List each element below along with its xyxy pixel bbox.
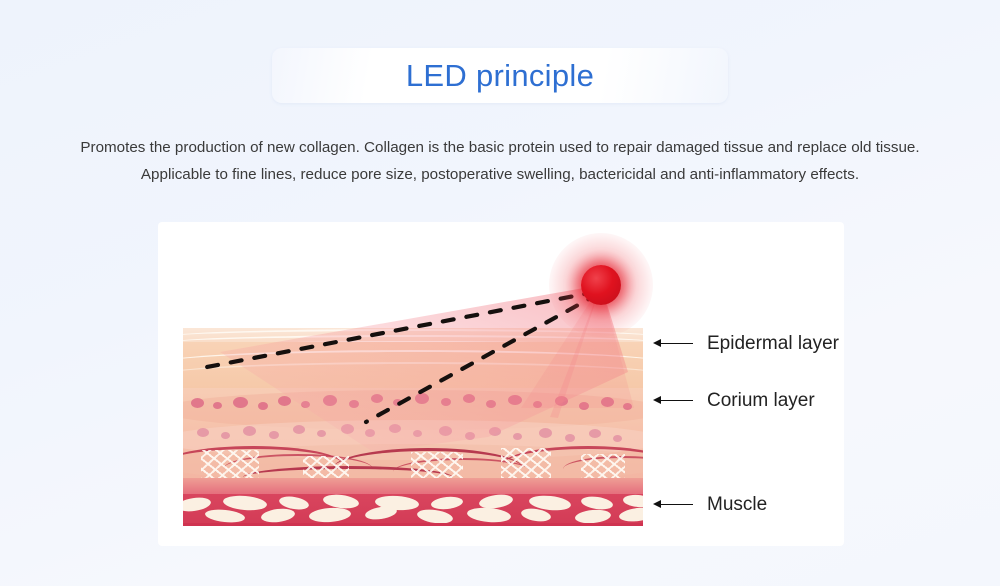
- dermal-cell: [508, 395, 522, 405]
- dermal-cell: [233, 397, 248, 408]
- illustration-canvas: Epidermal layer Corium layer Muscle: [158, 222, 844, 546]
- dermal-cell: [413, 430, 422, 437]
- dermal-cell: [278, 396, 291, 406]
- dermal-cell: [197, 428, 209, 437]
- dermal-cell: [623, 403, 632, 410]
- muscle-fiber: [623, 494, 643, 508]
- callout-corium-layer: Corium layer: [653, 389, 815, 411]
- callout-epidermal-layer: Epidermal layer: [653, 332, 839, 354]
- dermal-cell: [323, 395, 337, 406]
- dermal-cell: [441, 398, 451, 406]
- muscle-fiber: [430, 495, 463, 510]
- dermal-cell: [371, 394, 383, 403]
- dermal-cell: [579, 402, 589, 410]
- dermal-cell: [243, 426, 256, 436]
- callout-label: Epidermal layer: [707, 334, 839, 353]
- led-lamp-icon: [581, 265, 621, 305]
- dermal-cell: [463, 394, 475, 403]
- muscle-fiber: [580, 495, 613, 511]
- dermal-cell: [565, 434, 575, 442]
- collagen-bundle: [411, 452, 463, 480]
- page-root: LED principle Promotes the production of…: [0, 0, 1000, 586]
- dermal-cell: [555, 396, 568, 406]
- dermal-cell: [349, 400, 359, 408]
- dermal-cell: [365, 429, 375, 437]
- dermal-cell: [601, 397, 614, 407]
- muscle-fiber: [309, 507, 352, 524]
- muscle-fiber: [260, 507, 295, 524]
- page-title: LED principle: [406, 60, 594, 91]
- callout-label: Muscle: [707, 495, 767, 514]
- dermis-layer: [183, 388, 643, 481]
- left-arrow-icon: [653, 338, 693, 348]
- muscle-fiber: [466, 506, 511, 524]
- muscle-layer: [183, 494, 643, 526]
- dermal-cell: [415, 393, 429, 404]
- collagen-bundle: [501, 448, 551, 478]
- dermal-cell: [301, 401, 310, 408]
- muscle-fiber: [204, 508, 245, 524]
- dermal-cell: [269, 431, 279, 439]
- dermal-cell: [486, 400, 496, 408]
- epidermis-wave: [183, 362, 643, 390]
- collagen-bundle: [581, 454, 625, 480]
- left-arrow-icon: [653, 499, 693, 509]
- muscle-fiber: [618, 506, 643, 524]
- dermal-cell: [221, 432, 230, 439]
- dermal-cell: [489, 427, 501, 436]
- callout-muscle: Muscle: [653, 493, 767, 515]
- muscle-fiber: [222, 494, 267, 512]
- dermal-cell: [589, 429, 601, 438]
- dermal-cell: [539, 428, 552, 438]
- dermal-cell: [513, 433, 522, 440]
- dermal-cell: [389, 424, 401, 433]
- dermal-cell: [213, 402, 222, 409]
- dermal-cell: [613, 435, 622, 442]
- dermal-cell: [317, 430, 326, 437]
- dermal-cell: [439, 426, 452, 436]
- description-text: Promotes the production of new collagen.…: [60, 134, 940, 188]
- callout-label: Corium layer: [707, 391, 815, 410]
- dermal-cell: [341, 424, 354, 434]
- dermal-cell: [533, 401, 542, 408]
- illustration-card: Epidermal layer Corium layer Muscle: [158, 222, 844, 546]
- dermal-cell: [393, 399, 402, 406]
- dermal-cell: [191, 398, 204, 408]
- left-arrow-icon: [653, 395, 693, 405]
- title-card: LED principle: [272, 48, 728, 103]
- muscle-base-line: [183, 523, 643, 526]
- dermal-cell: [465, 432, 475, 440]
- dermal-cell: [258, 402, 268, 410]
- collagen-bundle: [201, 450, 259, 480]
- skin-cross-section: [183, 328, 643, 526]
- dermal-cell: [293, 425, 305, 434]
